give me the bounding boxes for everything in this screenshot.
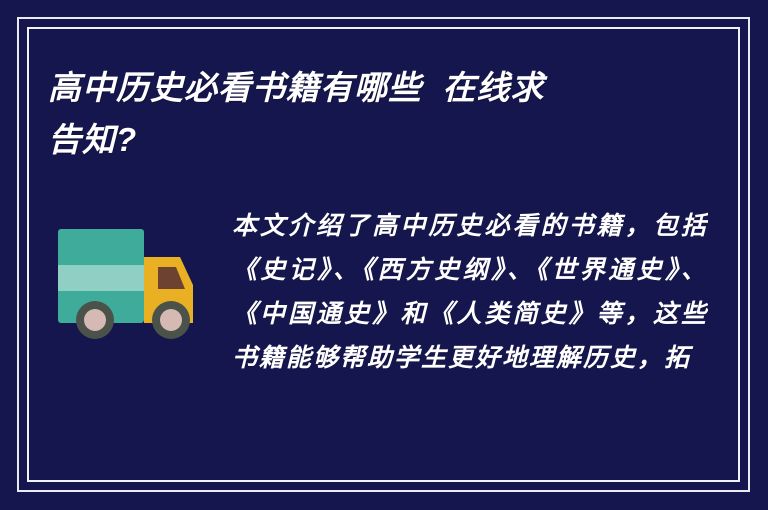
- poster-canvas: 高中历史必看书籍有哪些 在线求 告知? 本文介绍了高中历史必看的: [0, 0, 768, 510]
- title-line-1: 高中历史必看书籍有哪些 在线求: [48, 62, 688, 114]
- truck-rear-hub: [84, 309, 106, 331]
- truck-icon: [48, 223, 208, 353]
- body-paragraph: 本文介绍了高中历史必看的书籍，包括《史记》、《西方史纲》、《世界通史》、《中国通…: [232, 205, 708, 381]
- truck-front-hub: [160, 309, 182, 331]
- page-title: 高中历史必看书籍有哪些 在线求 告知?: [48, 62, 688, 166]
- truck-cargo-band: [58, 265, 144, 291]
- content-row: 本文介绍了高中历史必看的书籍，包括《史记》、《西方史纲》、《世界通史》、《中国通…: [48, 205, 708, 381]
- title-line-2: 告知?: [48, 114, 688, 166]
- truck-illustration-svg: [48, 223, 208, 353]
